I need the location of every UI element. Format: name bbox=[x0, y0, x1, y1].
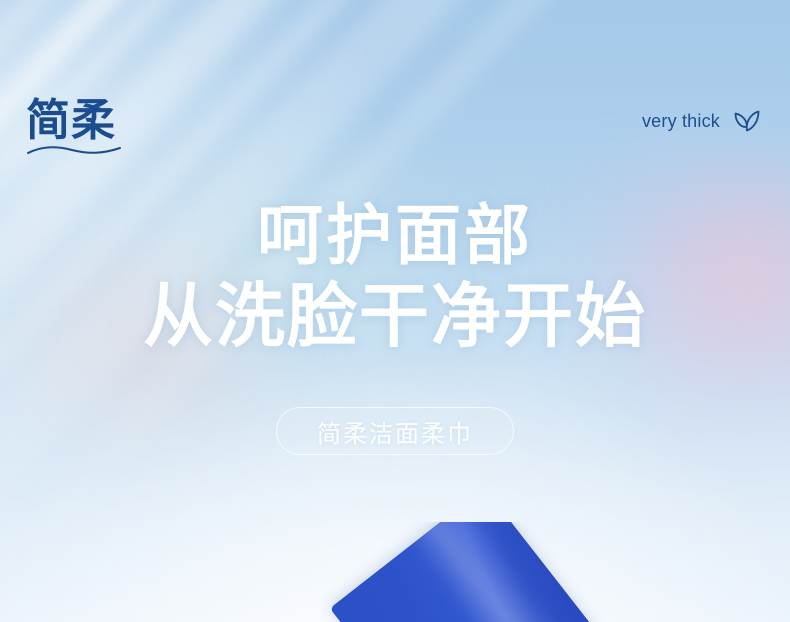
product-name-label: 简柔洁面柔巾 bbox=[317, 414, 473, 449]
light-ray bbox=[0, 0, 595, 537]
headline-line-2: 从洗脸干净开始 bbox=[0, 274, 790, 358]
light-ray bbox=[0, 0, 703, 622]
light-ray bbox=[0, 0, 432, 386]
product-package bbox=[330, 522, 638, 622]
leaf-icon bbox=[732, 108, 762, 134]
light-ray bbox=[0, 0, 475, 425]
headline-line-1: 呵护面部 bbox=[0, 196, 790, 276]
brand-logo[interactable]: 简柔 bbox=[26, 98, 122, 157]
product-name-pill[interactable]: 简柔洁面柔巾 bbox=[276, 407, 514, 455]
background-glow-aqua bbox=[120, 120, 480, 420]
very-thick-badge: very thick bbox=[642, 108, 762, 134]
promo-banner: 简柔 very thick 呵护面部 从洗脸干净开始 简柔洁面柔巾 简柔 bbox=[0, 0, 790, 622]
very-thick-label: very thick bbox=[642, 111, 720, 132]
brand-logo-wave-icon bbox=[26, 145, 122, 157]
light-ray bbox=[0, 0, 499, 448]
package-sheen bbox=[392, 522, 638, 622]
headline-block: 呵护面部 从洗脸干净开始 bbox=[0, 196, 790, 358]
package-side-panel bbox=[275, 568, 516, 622]
brand-logo-text: 简柔 bbox=[26, 98, 122, 144]
product-package-area: 简柔 bbox=[0, 522, 790, 622]
background-glow-warm bbox=[10, 210, 310, 470]
background-light-rays bbox=[0, 0, 790, 622]
light-ray bbox=[0, 0, 656, 595]
background-glow-pink bbox=[560, 150, 790, 450]
